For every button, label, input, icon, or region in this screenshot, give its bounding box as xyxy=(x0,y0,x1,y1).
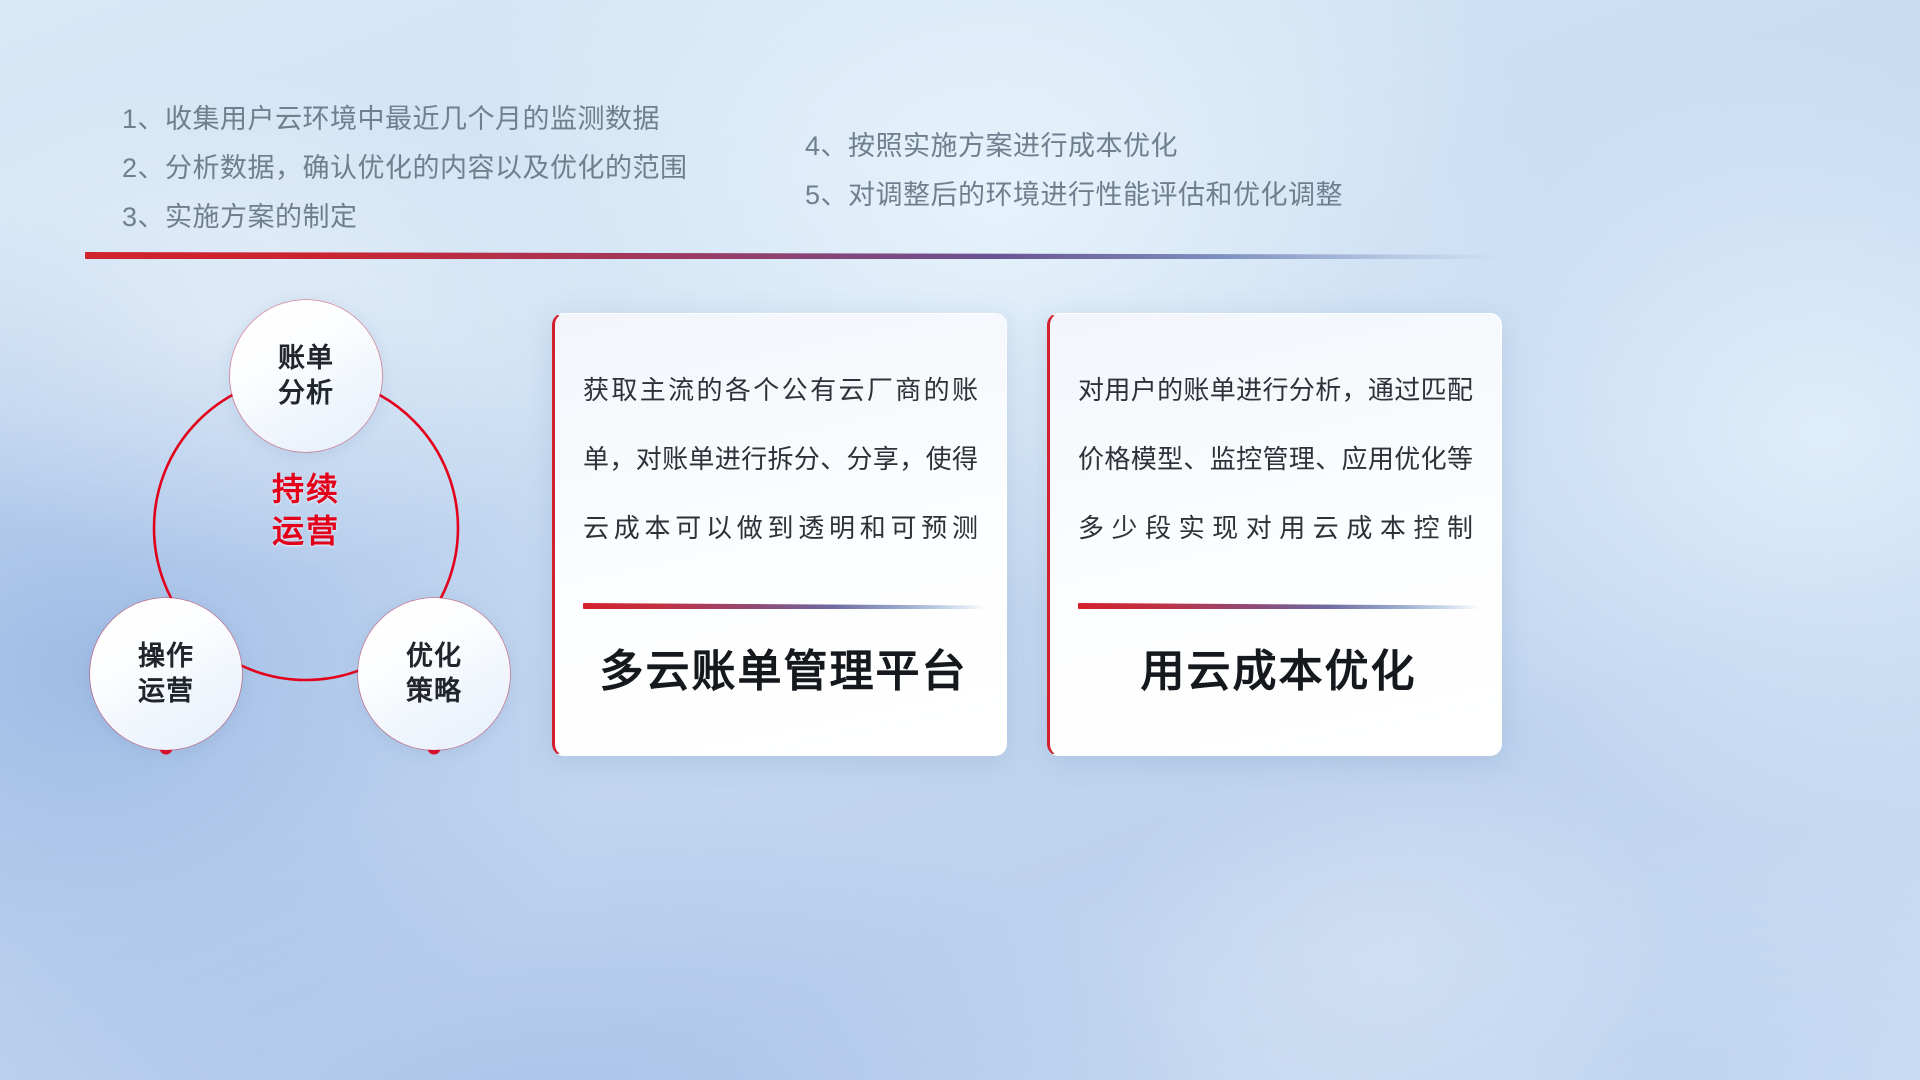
card-multi-cloud-billing-platform[interactable]: 获取主流的各个公有云厂商的账单，对账单进行拆分、分享，使得云成本可以做到透明和可… xyxy=(552,313,1007,756)
bubble-optimization-strategy[interactable]: 优化策略 xyxy=(358,598,510,750)
bubble-label-line: 运营 xyxy=(138,674,194,709)
bubble-label: 优化策略 xyxy=(406,639,462,709)
card-title: 多云账单管理平台 xyxy=(583,644,984,700)
bubble-billing-analysis[interactable]: 账单分析 xyxy=(230,300,382,452)
card-cloud-cost-optimization[interactable]: 对用户的账单进行分析，通过匹配价格模型、监控管理、应用优化等多少段实现对用云成本… xyxy=(1047,313,1502,756)
bubble-label-line: 分析 xyxy=(278,376,334,411)
bubble-label-line: 操作 xyxy=(138,639,194,674)
bubble-label-line: 策略 xyxy=(406,674,462,709)
steps-list-left: 1、收集用户云环境中最近几个月的监测数据 2、分析数据，确认优化的内容以及优化的… xyxy=(122,95,688,242)
card-title: 用云成本优化 xyxy=(1078,644,1479,700)
center-label-line: 持续 xyxy=(230,468,382,510)
bubble-label: 账单分析 xyxy=(278,341,334,411)
header-divider xyxy=(85,252,1503,259)
slide-canvas: 1、收集用户云环境中最近几个月的监测数据 2、分析数据，确认优化的内容以及优化的… xyxy=(0,0,1920,1080)
bubble-label-line: 账单 xyxy=(278,341,334,376)
step-item: 3、实施方案的制定 xyxy=(122,193,688,242)
card-divider xyxy=(583,603,984,609)
card-body: 对用户的账单进行分析，通过匹配价格模型、监控管理、应用优化等多少段实现对用云成本… xyxy=(1078,356,1473,563)
step-item: 5、对调整后的环境进行性能评估和优化调整 xyxy=(805,171,1343,220)
step-item: 1、收集用户云环境中最近几个月的监测数据 xyxy=(122,95,688,144)
card-divider xyxy=(1078,603,1479,609)
step-item: 4、按照实施方案进行成本优化 xyxy=(805,122,1343,171)
center-label-line: 运营 xyxy=(230,510,382,552)
bubble-label-line: 优化 xyxy=(406,639,462,674)
steps-list-right: 4、按照实施方案进行成本优化 5、对调整后的环境进行性能评估和优化调整 xyxy=(805,122,1343,220)
bubble-operations[interactable]: 操作运营 xyxy=(90,598,242,750)
card-body: 获取主流的各个公有云厂商的账单，对账单进行拆分、分享，使得云成本可以做到透明和可… xyxy=(583,356,978,563)
step-item: 2、分析数据，确认优化的内容以及优化的范围 xyxy=(122,144,688,193)
bubble-label: 操作运营 xyxy=(138,639,194,709)
diagram-center-label: 持续运营 xyxy=(230,468,382,552)
continuous-operation-diagram: 账单分析 操作运营 优化策略 持续运营 xyxy=(78,288,548,768)
